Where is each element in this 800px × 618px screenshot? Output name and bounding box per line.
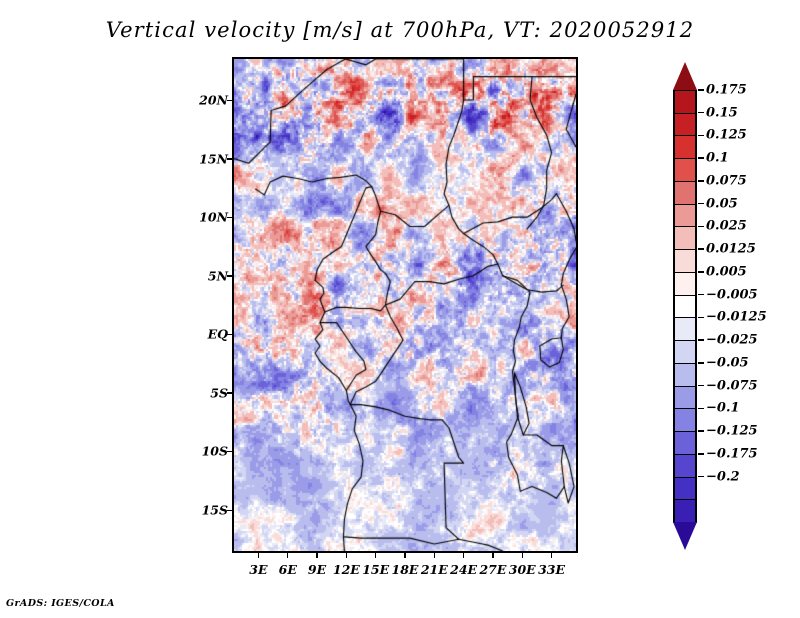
colorbar-tick [698, 248, 704, 250]
colorbar-tick-label: −0.05 [706, 355, 749, 370]
x-axis-tick [404, 553, 406, 558]
colorbar-tick-label: 0.075 [706, 173, 747, 188]
colorbar-swatch [673, 158, 697, 182]
colorbar-swatch [673, 363, 697, 387]
colorbar-swatch [673, 204, 697, 228]
colorbar-tick-label: 0.175 [706, 83, 747, 98]
y-axis-label: 15N [196, 151, 228, 166]
colorbar-tick-label: 0.1 [706, 151, 729, 166]
x-axis-label: 6E [279, 562, 297, 577]
colorbar-swatch [673, 249, 697, 273]
x-axis-tick [375, 553, 377, 558]
colorbar-tick [698, 157, 704, 159]
colorbar-swatch [673, 135, 697, 159]
colorbar-swatch [673, 454, 697, 478]
colorbar-tick [698, 203, 704, 205]
y-axis-tick [227, 451, 232, 453]
colorbar-tick-label: −0.125 [706, 424, 758, 439]
colorbar-tick-label: 0.0125 [706, 242, 756, 257]
colorbar-tick [698, 271, 704, 273]
colorbar-tick [698, 453, 704, 455]
x-axis-tick [551, 553, 553, 558]
x-axis-tick [287, 553, 289, 558]
y-axis-tick [227, 100, 232, 102]
y-axis-tick [227, 392, 232, 394]
colorbar-tick-label: −0.075 [706, 378, 758, 393]
y-axis-tick [227, 334, 232, 336]
country-borders-overlay [234, 59, 576, 551]
colorbar-tick-label: 0.005 [706, 264, 747, 279]
colorbar-tick [698, 430, 704, 432]
colorbar [673, 62, 697, 550]
x-axis-tick [434, 553, 436, 558]
colorbar-tick-label: 0.125 [706, 128, 747, 143]
x-axis-tick [346, 553, 348, 558]
x-axis-label: 18E [392, 562, 419, 577]
colorbar-swatch [673, 295, 697, 319]
x-axis-label: 12E [333, 562, 360, 577]
page-title: Vertical velocity [m/s] at 700hPa, VT: 2… [0, 18, 800, 42]
colorbar-swatch [673, 431, 697, 455]
colorbar-swatch [673, 499, 697, 523]
colorbar-tick [698, 135, 704, 137]
x-axis-tick [258, 553, 260, 558]
colorbar-swatch [673, 113, 697, 137]
y-axis-tick [227, 510, 232, 512]
x-axis-tick [522, 553, 524, 558]
colorbar-tick [698, 89, 704, 91]
colorbar-tick-label: −0.1 [706, 401, 740, 416]
colorbar-tick [698, 317, 704, 319]
y-axis-tick [227, 217, 232, 219]
colorbar-swatch [673, 317, 697, 341]
y-axis-tick [227, 275, 232, 277]
y-axis-label: 20N [196, 93, 228, 108]
x-axis-label: 9E [308, 562, 326, 577]
colorbar-swatch [673, 226, 697, 250]
x-axis-label: 21E [421, 562, 448, 577]
colorbar-tick [698, 385, 704, 387]
colorbar-tick [698, 112, 704, 114]
x-axis-label: 3E [249, 562, 267, 577]
colorbar-tick-label: −0.0125 [706, 310, 767, 325]
colorbar-swatch [673, 90, 697, 114]
colorbar-tick-label: 0.15 [706, 105, 738, 120]
map-plot-area [232, 57, 578, 553]
colorbar-tick [698, 226, 704, 228]
colorbar-arrow-up [673, 62, 697, 90]
colorbar-tick-label: 0.05 [706, 196, 738, 211]
colorbar-tick-label: −0.005 [706, 287, 758, 302]
y-axis-label: 5S [196, 385, 228, 400]
x-axis-tick [316, 553, 318, 558]
colorbar-tick [698, 294, 704, 296]
colorbar-swatch [673, 477, 697, 501]
x-axis-tick [463, 553, 465, 558]
colorbar-tick-label: −0.025 [706, 333, 758, 348]
colorbar-tick [698, 180, 704, 182]
colorbar-arrow-down [673, 522, 697, 550]
colorbar-tick-label: −0.2 [706, 469, 740, 484]
y-axis-tick [227, 158, 232, 160]
colorbar-swatch [673, 386, 697, 410]
y-axis-label: 10S [196, 444, 228, 459]
colorbar-swatch [673, 181, 697, 205]
colorbar-tick-label: 0.025 [706, 219, 747, 234]
y-axis-label: 10N [196, 210, 228, 225]
colorbar-swatch [673, 408, 697, 432]
x-axis-label: 24E [450, 562, 477, 577]
colorbar-tick [698, 339, 704, 341]
y-axis-label: 15S [196, 503, 228, 518]
x-axis-label: 30E [509, 562, 536, 577]
colorbar-tick [698, 362, 704, 364]
colorbar-tick [698, 476, 704, 478]
colorbar-swatch [673, 272, 697, 296]
x-axis-label: 27E [479, 562, 506, 577]
x-axis-label: 33E [538, 562, 565, 577]
x-axis-tick [492, 553, 494, 558]
y-axis-label: EQ [196, 327, 228, 342]
colorbar-tick-label: −0.175 [706, 446, 758, 461]
grads-attribution: GrADS: IGES/COLA [6, 598, 115, 609]
y-axis-label: 5N [196, 268, 228, 283]
colorbar-swatch [673, 340, 697, 364]
colorbar-tick [698, 408, 704, 410]
x-axis-label: 15E [362, 562, 389, 577]
